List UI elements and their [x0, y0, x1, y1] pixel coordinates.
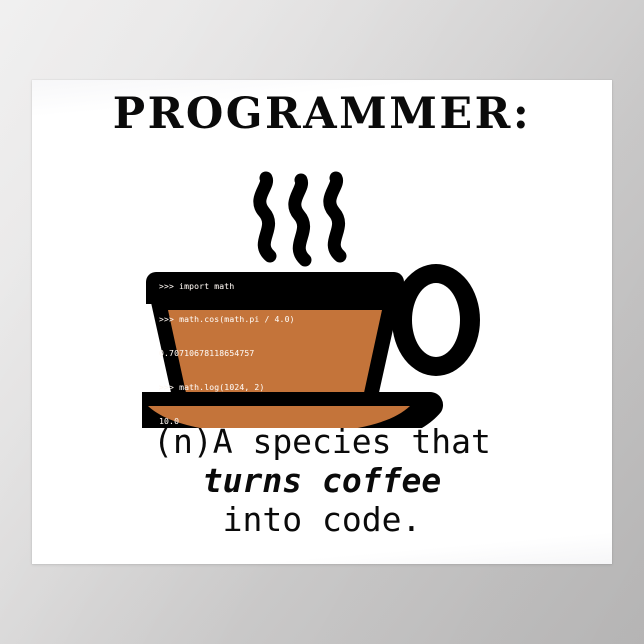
steam-wisp-1 — [260, 178, 270, 256]
code-line: >>> math.log(1024, 2) — [159, 382, 345, 393]
steam-wisp-2 — [295, 180, 305, 260]
poster-product-scene: PROGRAMMER: — [0, 0, 644, 644]
definition-line-1: (n)A species that — [32, 422, 612, 461]
steam-group — [260, 178, 340, 260]
definition-line-2: turns coffee — [32, 461, 612, 500]
poster-definition-text: (n)A species that turns coffee into code… — [32, 422, 612, 539]
code-line: >>> math.cos(math.pi / 4.0) — [159, 314, 345, 325]
code-line: 0.70710678118654757 — [159, 348, 345, 359]
code-line: >>> import math — [159, 281, 345, 292]
poster-title: PROGRAMMER: — [32, 93, 612, 136]
cup-handle — [392, 264, 480, 376]
poster: PROGRAMMER: — [32, 80, 612, 564]
steam-wisp-3 — [330, 178, 340, 256]
definition-line-3: into code. — [32, 500, 612, 539]
